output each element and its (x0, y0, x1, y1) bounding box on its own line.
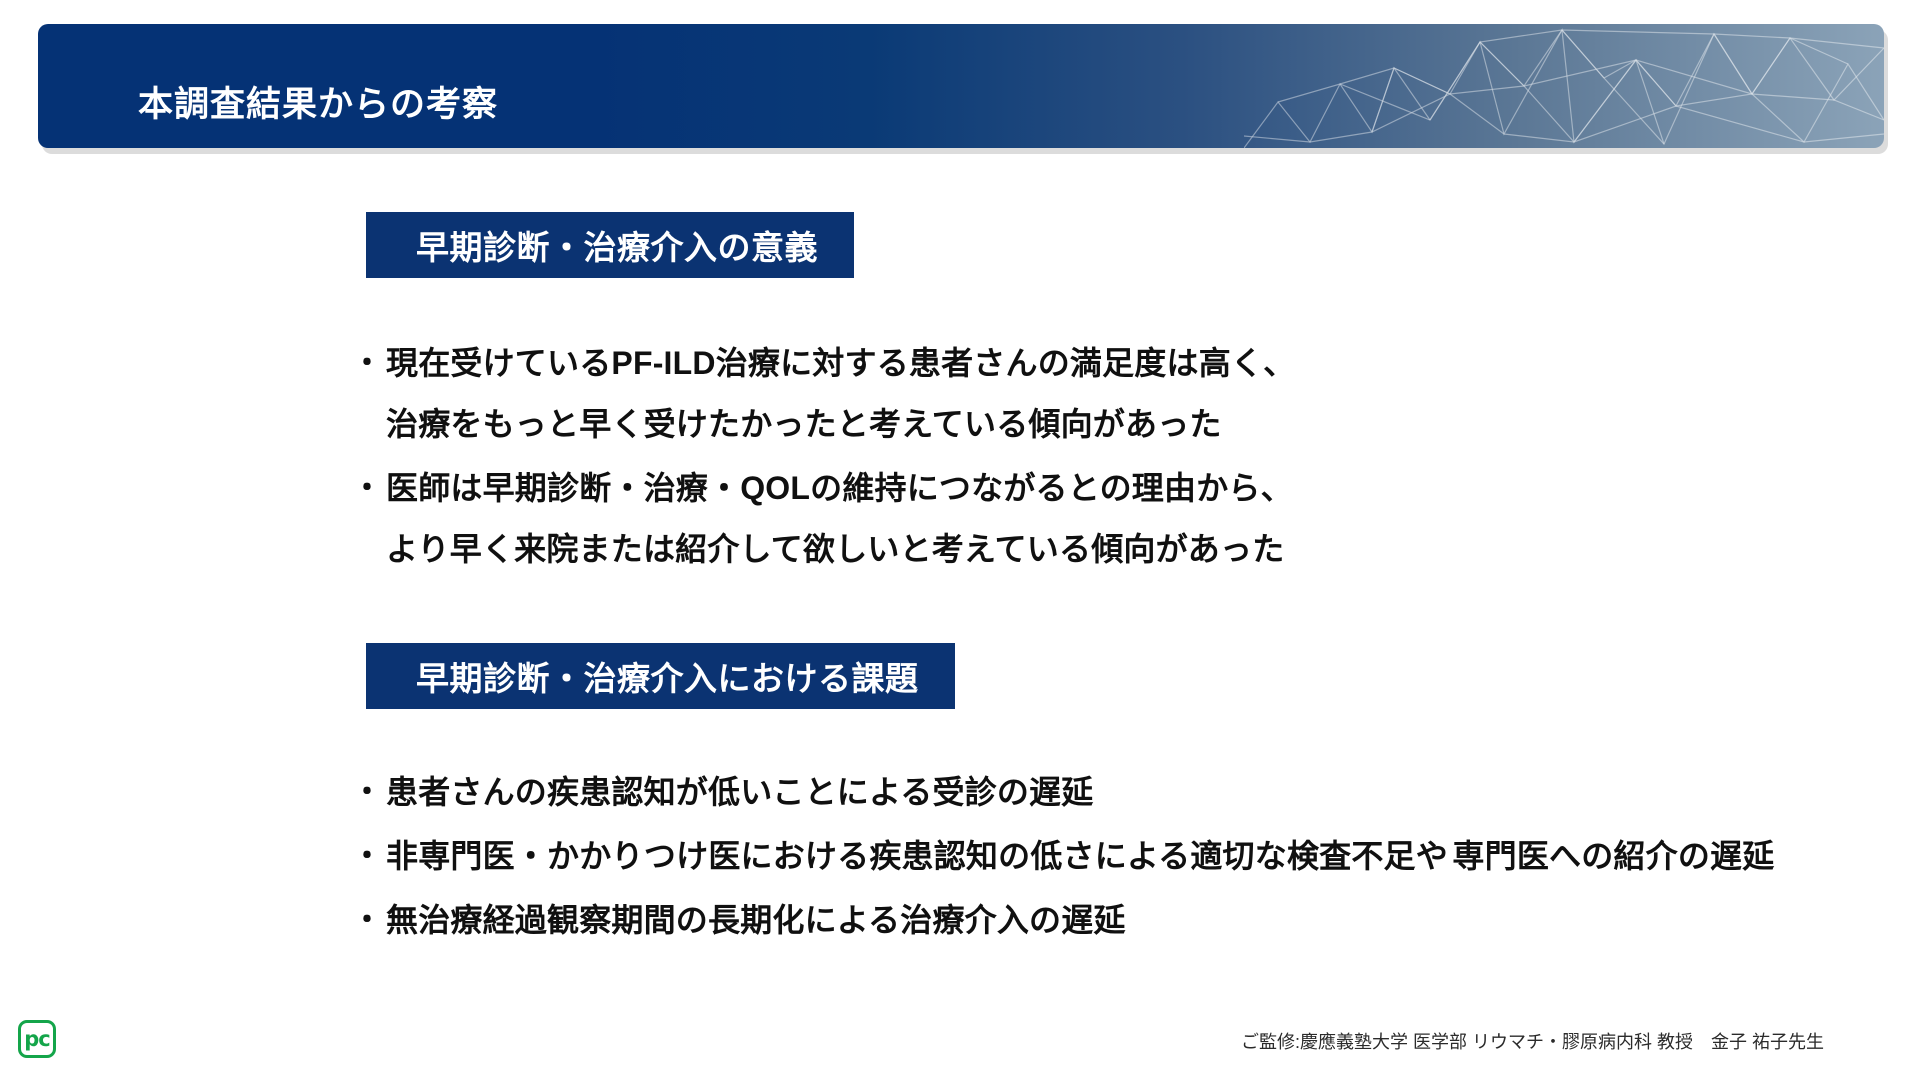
bullet-marker-icon: ・ (352, 333, 386, 394)
bullet-line: 医師は早期診断・治療・QOLの維持につながるとの理由から、 (386, 470, 1293, 506)
bullet-block-1: ・ 現在受けているPF-ILD治療に対する患者さんの満足度は高く、 治療をもっと… (352, 333, 1920, 583)
bullet-line: 無治療経過観察期間の長期化による治療介入の遅延 (386, 902, 1126, 938)
bullet-line: 治療をもっと早く受けたかったと考えている傾向があった (386, 406, 1222, 442)
page-title: 本調査結果からの考察 (138, 76, 498, 127)
bullet-text: 患者さんの疾患認知が低いことによる受診の遅延 (386, 762, 1093, 823)
network-graphic-icon (1244, 24, 1884, 148)
bullet-line: 専門医への紹介の遅延 (1452, 838, 1774, 874)
bullet-marker-icon: ・ (352, 458, 386, 519)
bullet-line: 現在受けているPF-ILD治療に対する患者さんの満足度は高く、 (386, 345, 1295, 381)
bullet-line: 非専門医・かかりつけ医における疾患認知の低さによる適切な検査不足や (386, 838, 1448, 874)
bullet-text: 現在受けているPF-ILD治療に対する患者さんの満足度は高く、 治療をもっと早く… (386, 333, 1920, 455)
bullet-marker-icon: ・ (352, 762, 386, 823)
bullet-text: 非専門医・かかりつけ医における疾患認知の低さによる適切な検査不足や 専門医への紹… (386, 826, 1774, 887)
header-banner: 本調査結果からの考察 (38, 24, 1884, 148)
supervisor-credit: ご監修:慶應義塾大学 医学部 リウマチ・膠原病内科 教授 金子 祐子先生 (1241, 1028, 1824, 1054)
bullet-text: 医師は早期診断・治療・QOLの維持につながるとの理由から、 より早く来院または紹… (386, 458, 1920, 580)
bullet-text: 無治療経過観察期間の長期化による治療介入の遅延 (386, 890, 1126, 951)
list-item: ・ 医師は早期診断・治療・QOLの維持につながるとの理由から、 より早く来院また… (352, 458, 1920, 580)
pc-logo-icon: pc (18, 1020, 56, 1058)
bullet-marker-icon: ・ (352, 890, 386, 951)
slide-canvas: 本調査結果からの考察 早期診断・治療介入の意義 ・ 現在受けているPF-ILD治… (0, 0, 1920, 1080)
section-header-chip-2: 早期診断・治療介入における課題 (366, 643, 955, 709)
list-item: ・ 非専門医・かかりつけ医における疾患認知の低さによる適切な検査不足や 専門医へ… (352, 826, 1774, 887)
list-item: ・ 患者さんの疾患認知が低いことによる受診の遅延 (352, 762, 1774, 823)
section-header-label-2: 早期診断・治療介入における課題 (416, 652, 919, 700)
pc-logo-text: pc (24, 1029, 49, 1050)
list-item: ・ 無治療経過観察期間の長期化による治療介入の遅延 (352, 890, 1774, 951)
bullet-line: 患者さんの疾患認知が低いことによる受診の遅延 (386, 774, 1093, 810)
section-header-label-1: 早期診断・治療介入の意義 (416, 221, 818, 269)
bullet-marker-icon: ・ (352, 826, 386, 887)
bullet-block-2: ・ 患者さんの疾患認知が低いことによる受診の遅延 ・ 非専門医・かかりつけ医にお… (352, 762, 1774, 954)
list-item: ・ 現在受けているPF-ILD治療に対する患者さんの満足度は高く、 治療をもっと… (352, 333, 1920, 455)
bullet-line: より早く来院または紹介して欲しいと考えている傾向があった (386, 531, 1284, 567)
section-header-chip-1: 早期診断・治療介入の意義 (366, 212, 854, 278)
